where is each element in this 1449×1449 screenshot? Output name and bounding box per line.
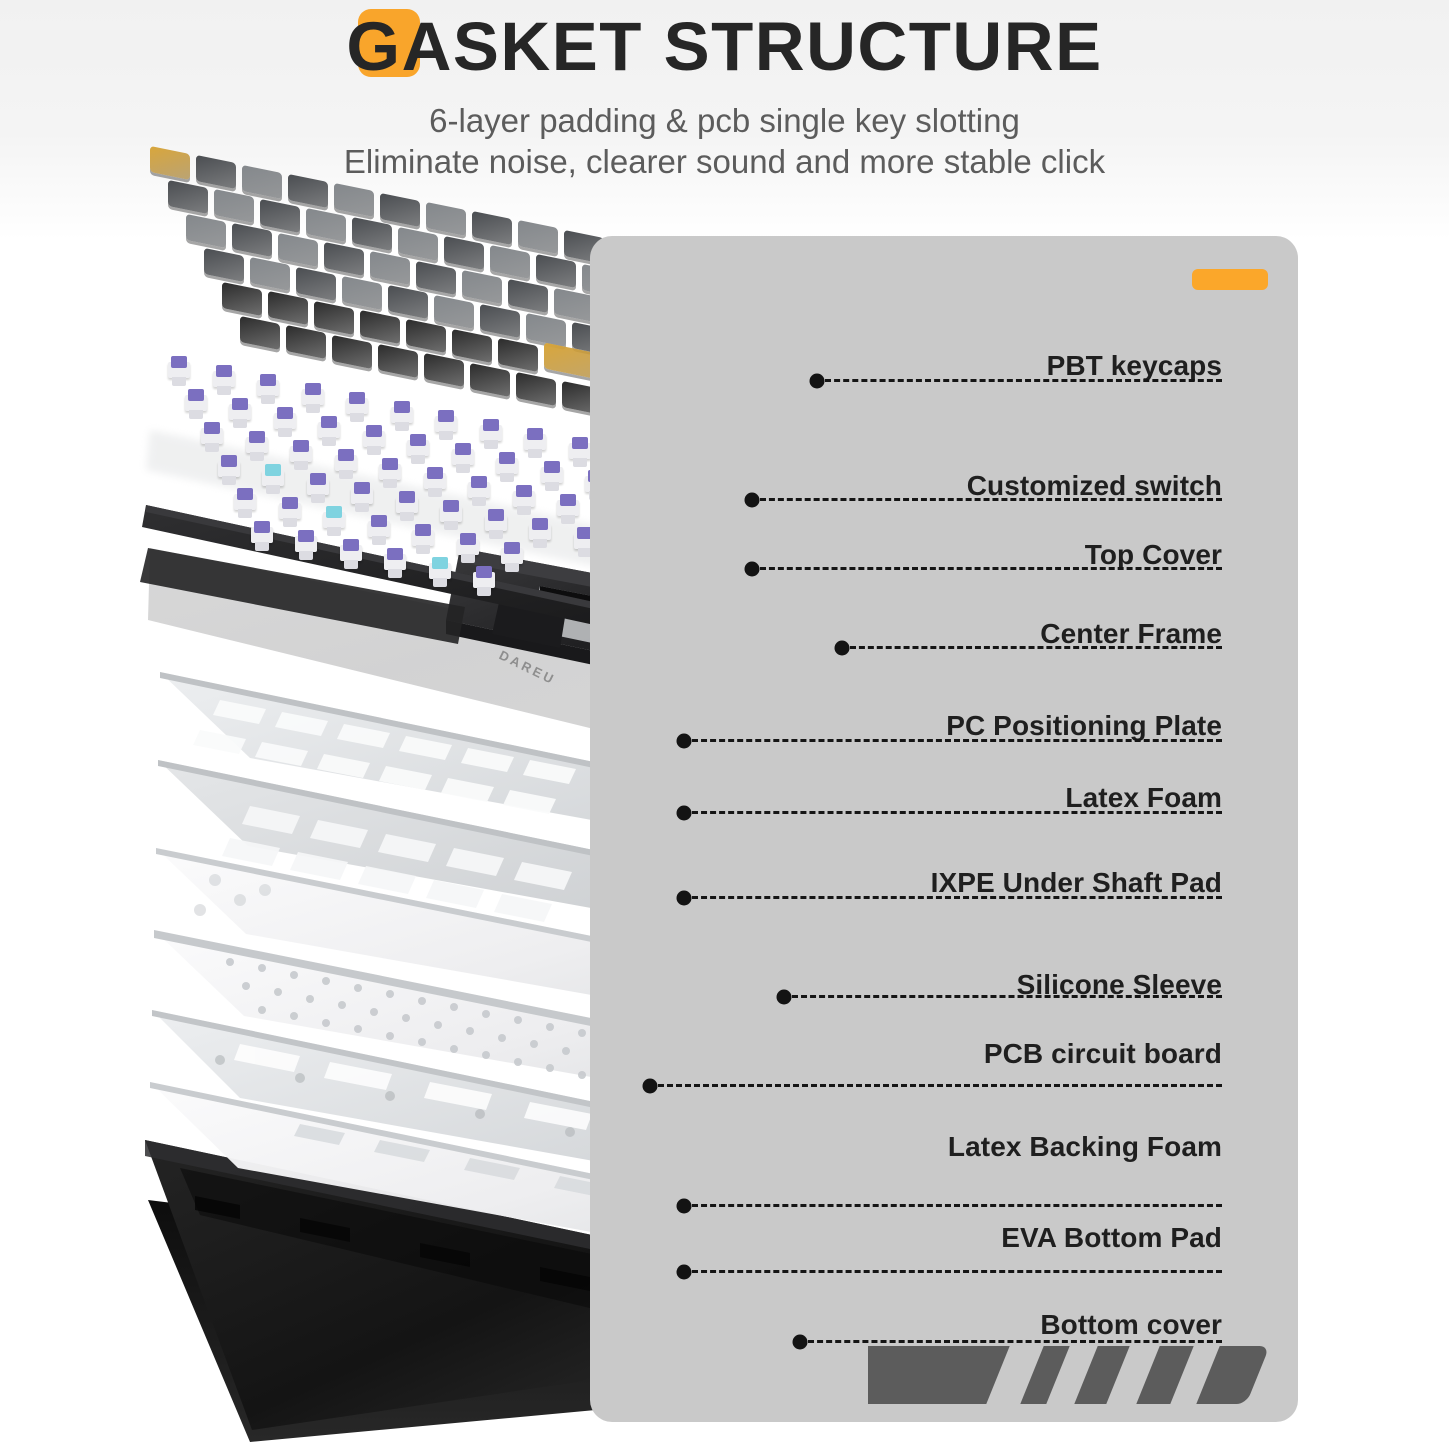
callout-leader-line [692, 1204, 1222, 1207]
keycap [526, 313, 566, 347]
switch-housing [279, 503, 301, 519]
switch-stem [232, 398, 248, 410]
keycap [378, 344, 418, 378]
keyboard-switch [295, 530, 317, 560]
keyboard-switch [407, 434, 429, 464]
switch-housing [168, 362, 190, 378]
switch-stem [305, 383, 321, 395]
switch-housing [318, 422, 340, 438]
keyboard-switch [391, 401, 413, 431]
switch-legs [400, 512, 414, 521]
switch-legs [372, 536, 386, 545]
keyboard-switch [302, 383, 324, 413]
switch-legs [367, 446, 381, 455]
switch-legs [311, 494, 325, 503]
switch-housing [218, 461, 240, 477]
switch-legs [278, 428, 292, 437]
keycap [342, 276, 382, 310]
switch-housing [290, 446, 312, 462]
switch-stem [455, 443, 471, 455]
switch-stem [249, 431, 265, 443]
switch-stem [310, 473, 326, 485]
switch-stem [366, 425, 382, 437]
switch-stem [499, 452, 515, 464]
keyboard-switch [440, 500, 462, 530]
keyboard-switch [435, 410, 457, 440]
switch-stem [387, 548, 403, 560]
callout-anchor-dot [835, 641, 850, 656]
keyboard-switch [541, 461, 563, 491]
switch-legs [250, 452, 264, 461]
switch-stem [560, 494, 576, 506]
switch-legs [299, 551, 313, 560]
switch-stem [460, 533, 476, 545]
switch-housing [513, 491, 535, 507]
switch-stem [260, 374, 276, 386]
callout-anchor-dot [677, 891, 692, 906]
callout-anchor-dot [677, 1199, 692, 1214]
switch-legs [238, 509, 252, 518]
callout-leader-line [692, 811, 1222, 814]
panel-diagonal-stripes [868, 1346, 1298, 1404]
callout-leader-line [792, 995, 1222, 998]
keycap [240, 316, 280, 350]
switch-legs [172, 377, 186, 386]
header: GASKET STRUCTURE 6-layer padding & pcb s… [0, 0, 1449, 200]
switch-stem [354, 482, 370, 494]
keyboard-switch [424, 467, 446, 497]
keyboard-switch [513, 485, 535, 515]
switch-legs [489, 530, 503, 539]
keycap [360, 310, 400, 344]
switch-legs [561, 515, 575, 524]
switch-stem [277, 407, 293, 419]
switch-stem [476, 566, 492, 578]
switch-legs [461, 554, 475, 563]
keyboard-switch [335, 449, 357, 479]
switch-legs [505, 563, 519, 572]
keyboard-switch [185, 389, 207, 419]
switch-housing [351, 488, 373, 504]
keyboard-switch [396, 491, 418, 521]
switch-stem [394, 401, 410, 413]
switch-stem [471, 476, 487, 488]
keyboard-switch [501, 542, 523, 572]
callout-leader-line [808, 1340, 1222, 1343]
keycap [516, 372, 556, 406]
switch-legs [222, 476, 236, 485]
keyboard-switch [368, 515, 390, 545]
callout-label: Bottom cover [1040, 1308, 1222, 1342]
keycap [314, 301, 354, 335]
switch-stem [265, 464, 281, 476]
switch-stem [216, 365, 232, 377]
callout-label: Latex Foam [1065, 781, 1222, 815]
switch-stem [443, 500, 459, 512]
keycap [498, 338, 538, 372]
keycap [508, 279, 548, 313]
switch-stem [410, 434, 426, 446]
switch-housing [257, 380, 279, 396]
callout-anchor-dot [810, 374, 825, 389]
switch-housing [251, 527, 273, 543]
switch-housing [335, 455, 357, 471]
switch-stem [544, 461, 560, 473]
switch-housing [201, 428, 223, 444]
keyboard-switch [279, 497, 301, 527]
switch-legs [339, 470, 353, 479]
switch-legs [388, 569, 402, 578]
keycap [452, 328, 492, 362]
switch-stem [438, 410, 454, 422]
keyboard-switch [274, 407, 296, 437]
switch-housing [346, 398, 368, 414]
callout-leader-line [692, 1270, 1222, 1273]
keyboard-switch [379, 458, 401, 488]
switch-housing [541, 467, 563, 483]
switch-housing [524, 434, 546, 450]
switch-stem [338, 449, 354, 461]
switch-legs [573, 458, 587, 467]
switch-housing [363, 431, 385, 447]
switch-legs [327, 527, 341, 536]
switch-housing [340, 545, 362, 561]
switch-housing [440, 506, 462, 522]
keyboard-switch [229, 398, 251, 428]
keyboard-switch [340, 539, 362, 569]
stripe [868, 1346, 1010, 1404]
switch-housing [473, 572, 495, 588]
callout-leader-line [658, 1084, 1222, 1087]
switch-stem [516, 485, 532, 497]
switch-legs [322, 437, 336, 446]
keyboard-switch [262, 464, 284, 494]
switch-legs [533, 539, 547, 548]
switch-legs [545, 482, 559, 491]
callout-anchor-dot [677, 806, 692, 821]
switch-housing [407, 440, 429, 456]
switch-housing [185, 395, 207, 411]
switch-legs [416, 545, 430, 554]
callout-leader-line [692, 739, 1222, 742]
switch-housing [262, 470, 284, 486]
switch-housing [457, 539, 479, 555]
switch-housing [557, 500, 579, 516]
callout-label: IXPE Under Shaft Pad [931, 866, 1222, 900]
switch-stem [527, 428, 543, 440]
switch-legs [283, 518, 297, 527]
switch-legs [306, 404, 320, 413]
switch-housing [496, 458, 518, 474]
switch-stem [532, 518, 548, 530]
keyboard-switch [201, 422, 223, 452]
subtitle-line-1: 6-layer padding & pcb single key slottin… [0, 100, 1449, 141]
keyboard-switch [168, 356, 190, 386]
switch-stem [254, 521, 270, 533]
keyboard-switch [485, 509, 507, 539]
callout-leader-line [692, 896, 1222, 899]
callout-anchor-dot [643, 1079, 658, 1094]
switch-housing [213, 371, 235, 387]
switch-stem [427, 467, 443, 479]
keycap [424, 353, 464, 387]
keyboard-switch [412, 524, 434, 554]
switch-legs [205, 443, 219, 452]
switch-stem [188, 389, 204, 401]
switch-legs [217, 386, 231, 395]
keycap [536, 254, 576, 288]
keycap [470, 362, 510, 396]
switch-stem [221, 455, 237, 467]
keycap [296, 267, 336, 301]
switch-housing [412, 530, 434, 546]
callout-leader-line [850, 646, 1222, 649]
switch-housing [429, 563, 451, 579]
callout-anchor-dot [677, 1265, 692, 1280]
switch-legs [456, 464, 470, 473]
switch-stem [343, 539, 359, 551]
stripe [1074, 1346, 1129, 1404]
switch-legs [528, 449, 542, 458]
switch-legs [189, 410, 203, 419]
keyboard-switch [257, 374, 279, 404]
keycap [250, 257, 290, 291]
keyboard-switch [480, 419, 502, 449]
switch-legs [261, 395, 275, 404]
switch-stem [204, 422, 220, 434]
callout-label: PCB circuit board [984, 1037, 1222, 1071]
switch-stem [415, 524, 431, 536]
callout-anchor-dot [745, 493, 760, 508]
keyboard-switch [290, 440, 312, 470]
switch-legs [344, 560, 358, 569]
switch-housing [452, 449, 474, 465]
keyboard-switch [496, 452, 518, 482]
page-subtitle: 6-layer padding & pcb single key slottin… [0, 100, 1449, 182]
switch-housing [295, 536, 317, 552]
switch-housing [424, 473, 446, 489]
keyboard-switch [323, 506, 345, 536]
dareu-brand-mark: DAREU [497, 647, 559, 687]
keyboard-switch [346, 392, 368, 422]
keyboard-switch [213, 365, 235, 395]
switch-housing [246, 437, 268, 453]
switch-housing [435, 416, 457, 432]
keycap [332, 335, 372, 369]
callout-label: Latex Backing Foam [948, 1130, 1222, 1164]
switch-legs [383, 479, 397, 488]
keycap [462, 270, 502, 304]
callout-anchor-dot [677, 734, 692, 749]
subtitle-line-2: Eliminate noise, clearer sound and more … [0, 141, 1449, 182]
switch-housing [368, 521, 390, 537]
switch-legs [266, 485, 280, 494]
switch-housing [468, 482, 490, 498]
keyboard-switch [363, 425, 385, 455]
keyboard-switch [234, 488, 256, 518]
switch-stem [483, 419, 499, 431]
switch-housing [569, 443, 591, 459]
keycap [406, 319, 446, 353]
switch-stem [572, 437, 588, 449]
keyboard-switch [468, 476, 490, 506]
switch-stem [432, 557, 448, 569]
keyboard-switch [457, 533, 479, 563]
switch-stem [371, 515, 387, 527]
stripe [1020, 1346, 1069, 1404]
keycap [204, 248, 244, 282]
page-title-row: GASKET STRUCTURE [0, 4, 1449, 90]
keyboard-switch [529, 518, 551, 548]
callout-anchor-dot [745, 562, 760, 577]
switch-stem [171, 356, 187, 368]
callout-label: PC Positioning Plate [946, 709, 1222, 743]
switch-legs [472, 497, 486, 506]
callout-leader-line [760, 498, 1222, 501]
keycap [286, 325, 326, 359]
switch-legs [517, 506, 531, 515]
switch-housing [480, 425, 502, 441]
keyboard-switch [351, 482, 373, 512]
keycap [370, 251, 410, 285]
switch-legs [500, 473, 514, 482]
switch-legs [444, 521, 458, 530]
keyboard-switch [251, 521, 273, 551]
switch-housing [529, 524, 551, 540]
callout-anchor-dot [777, 990, 792, 1005]
keyboard-switch [473, 566, 495, 596]
switch-stem [488, 509, 504, 521]
switch-legs [484, 440, 498, 449]
switch-legs [294, 461, 308, 470]
keycap [434, 294, 474, 328]
keycap [222, 282, 262, 316]
keyboard-switch [246, 431, 268, 461]
keycap [324, 242, 364, 276]
switch-legs [233, 419, 247, 428]
switch-legs [350, 413, 364, 422]
switch-legs [255, 542, 269, 551]
callout-leader-line [760, 567, 1222, 570]
stripe [1136, 1346, 1193, 1404]
switch-stem [349, 392, 365, 404]
keycap [554, 288, 594, 322]
keycap [490, 245, 530, 279]
switch-housing [234, 494, 256, 510]
switch-housing [384, 554, 406, 570]
switch-stem [326, 506, 342, 518]
keyboard-switch [307, 473, 329, 503]
switch-legs [428, 488, 442, 497]
switch-stem [282, 497, 298, 509]
stripe [1196, 1346, 1269, 1404]
keyboard-switch [569, 437, 591, 467]
keyboard-switch [384, 548, 406, 578]
switch-stem [399, 491, 415, 503]
switch-legs [433, 578, 447, 587]
keycap [416, 260, 456, 294]
switch-housing [274, 413, 296, 429]
callout-leader-line [825, 379, 1222, 382]
keyboard-switch [429, 557, 451, 587]
keyboard-switch [218, 455, 240, 485]
callout-label: PBT keycaps [1047, 349, 1222, 383]
switch-stem [382, 458, 398, 470]
switch-legs [395, 422, 409, 431]
keycap [388, 285, 428, 319]
page-title: GASKET STRUCTURE [346, 4, 1102, 90]
keyboard-switch [452, 443, 474, 473]
switch-housing [501, 548, 523, 564]
switch-housing [379, 464, 401, 480]
keyboard-switch [524, 428, 546, 458]
callout-anchor-dot [793, 1335, 808, 1350]
switch-housing [302, 389, 324, 405]
callout-label: EVA Bottom Pad [1001, 1221, 1222, 1255]
keyboard-switch [318, 416, 340, 446]
switch-stem [237, 488, 253, 500]
switch-legs [411, 455, 425, 464]
switch-stem [321, 416, 337, 428]
keycap [268, 291, 308, 325]
switch-stem [293, 440, 309, 452]
switch-housing [323, 512, 345, 528]
keycap [480, 304, 520, 338]
switch-housing [307, 479, 329, 495]
keyboard-switch [557, 494, 579, 524]
switch-legs [355, 503, 369, 512]
panel-accent-bar [1192, 269, 1268, 290]
switch-housing [391, 407, 413, 423]
keycap [444, 236, 484, 270]
switch-housing [485, 515, 507, 531]
switch-housing [396, 497, 418, 513]
switch-legs [477, 587, 491, 596]
switch-housing [229, 404, 251, 420]
switch-legs [439, 431, 453, 440]
switch-stem [504, 542, 520, 554]
switch-stem [298, 530, 314, 542]
